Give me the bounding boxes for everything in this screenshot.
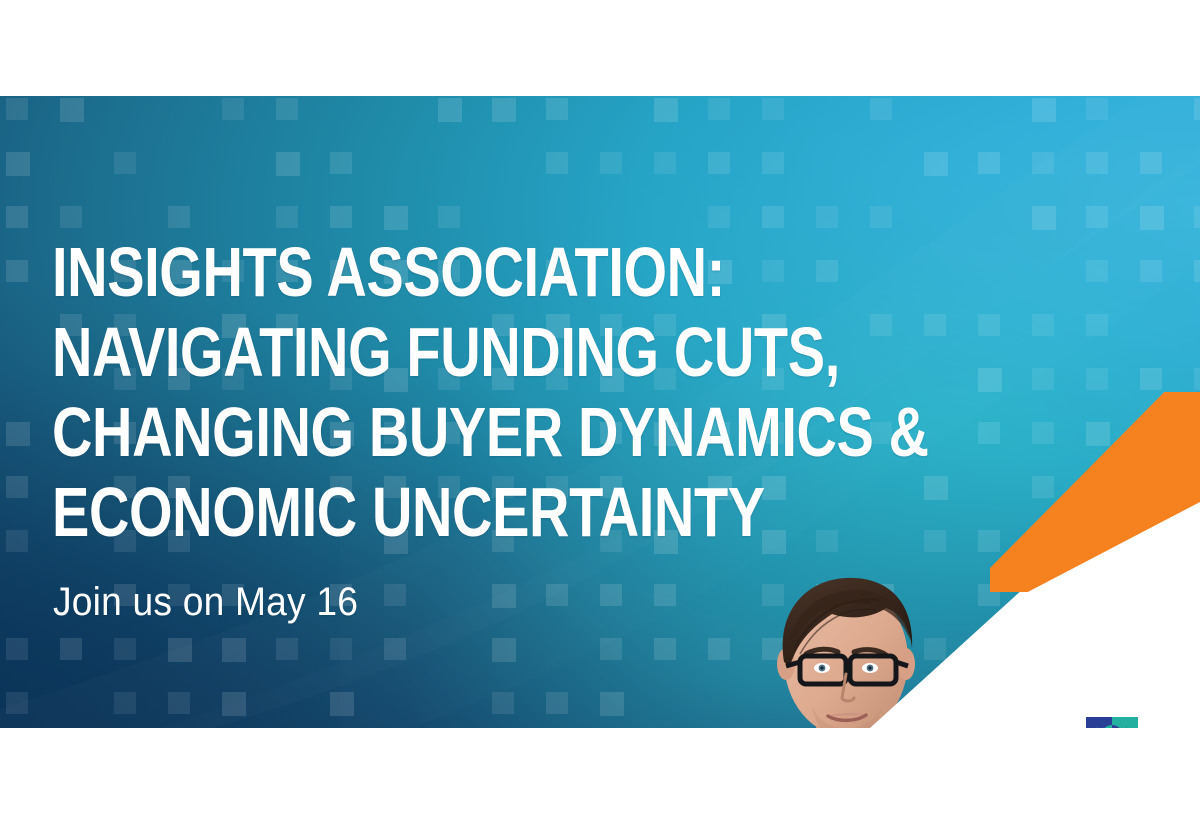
event-date-subhead: Join us on May 16 [53, 578, 358, 626]
headline-line-2: NAVIGATING FUNDING CUTS, [52, 312, 900, 392]
speaker-headshot-icon [700, 556, 990, 728]
headline-line-3: CHANGING BUYER DYNAMICS & [52, 392, 900, 472]
headline-line-4: ECONOMIC UNCERTAINTY [52, 472, 900, 552]
event-promo-banner: INSIGHTS ASSOCIATION: NAVIGATING FUNDING… [0, 96, 1200, 728]
ipsos-logo-icon: Ipsos [1086, 717, 1138, 728]
headline-line-1: INSIGHTS ASSOCIATION: [52, 232, 900, 312]
promo-banner-page: INSIGHTS ASSOCIATION: NAVIGATING FUNDING… [0, 0, 1200, 828]
speaker-headshot [700, 556, 990, 728]
headline: INSIGHTS ASSOCIATION: NAVIGATING FUNDING… [52, 232, 1112, 552]
ipsos-logo[interactable]: Ipsos [1086, 717, 1138, 728]
